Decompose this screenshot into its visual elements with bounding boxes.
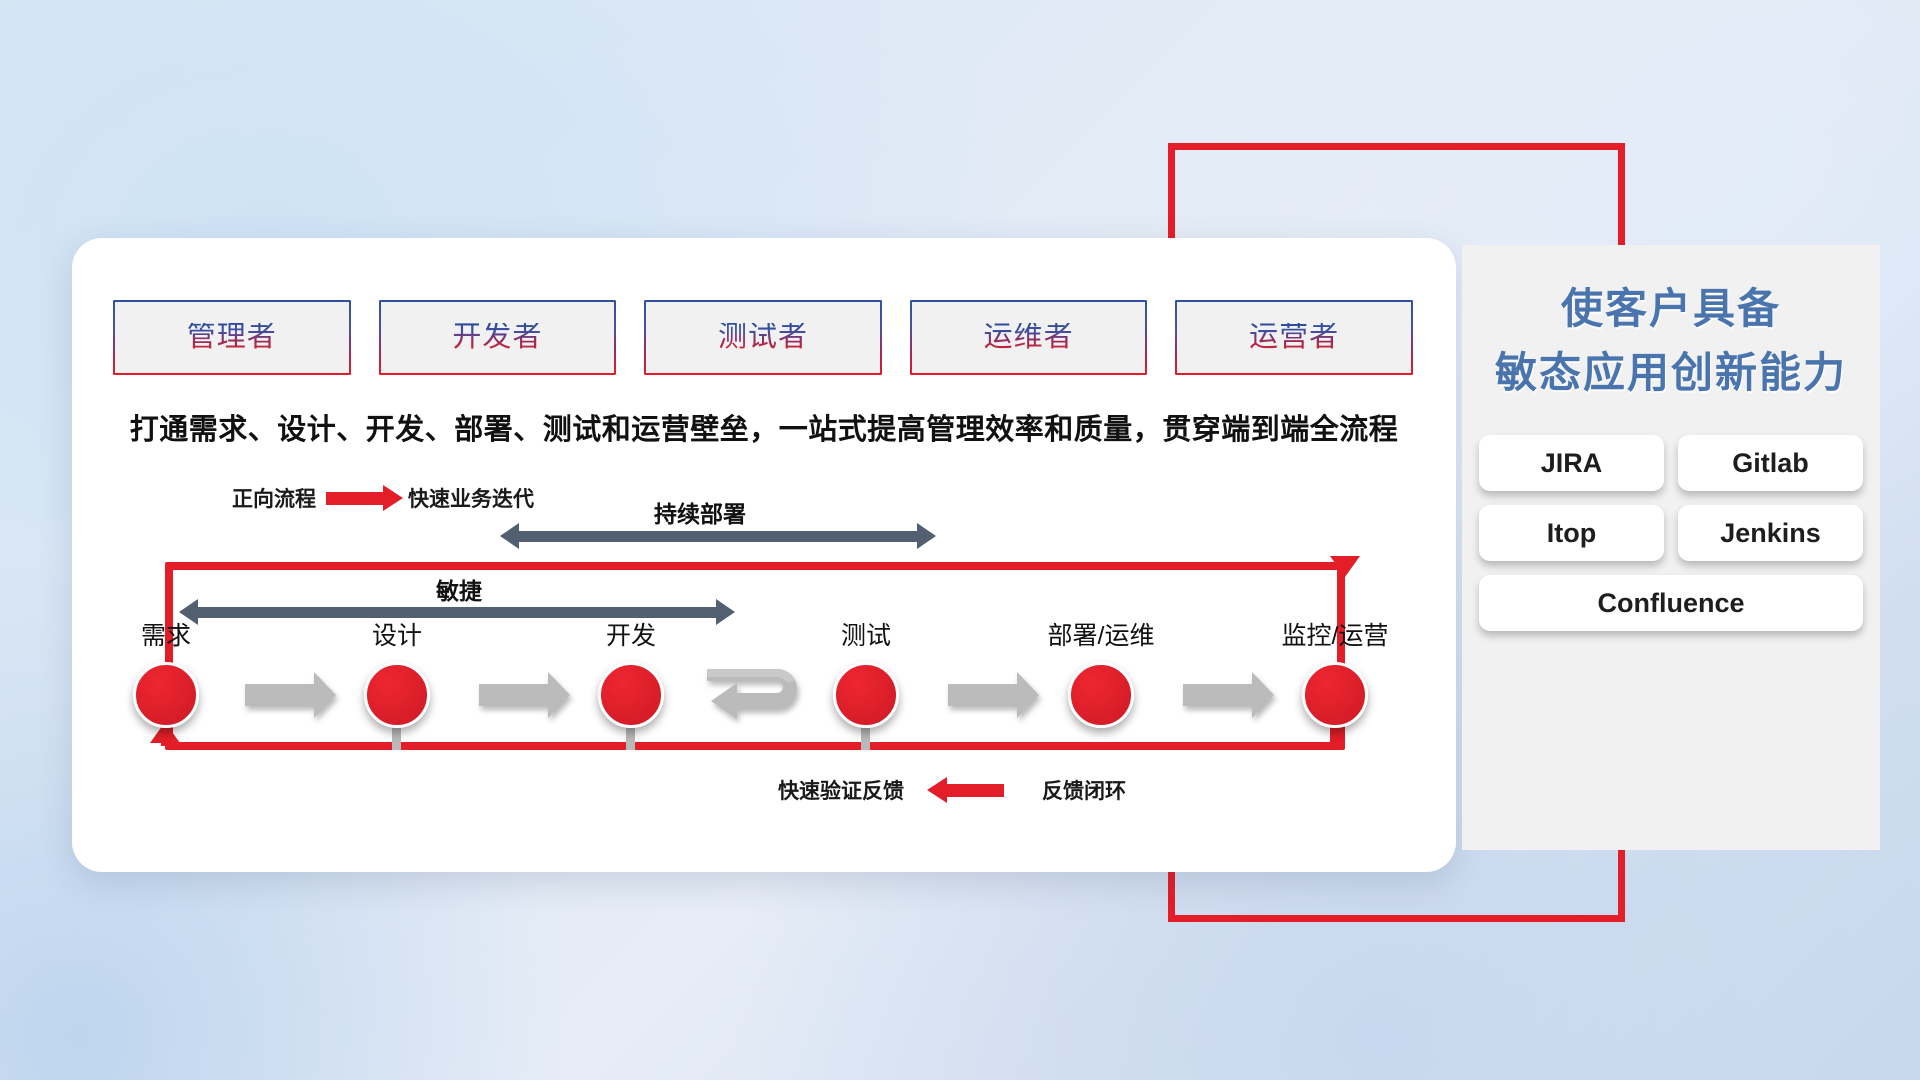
feedback-loop-legend: 快速验证反馈 反馈闭环 — [778, 775, 1126, 805]
feedback-source-label: 反馈闭环 — [1042, 775, 1126, 805]
continuous-deployment-span-arrow — [518, 531, 918, 542]
tool-button-label: Itop — [1547, 518, 1596, 549]
role-chip-tester[interactable]: 测试者 — [644, 300, 882, 375]
tool-button-jenkins[interactable]: Jenkins — [1678, 505, 1863, 561]
continuous-deployment-label: 持续部署 — [654, 495, 746, 529]
tool-button-confluence[interactable]: Confluence — [1479, 575, 1863, 631]
pipeline-node-development[interactable]: 开发 — [598, 662, 664, 728]
pipeline-node-label: 测试 — [841, 616, 891, 652]
feedback-target-label: 快速验证反馈 — [778, 775, 904, 805]
tool-button-label: Gitlab — [1732, 448, 1809, 479]
slide-canvas: 管理者 开发者 测试者 运维者 运营者 打通需求、设计、开发、部署、测试和运营壁… — [0, 0, 1920, 1080]
tool-button-itop[interactable]: Itop — [1479, 505, 1664, 561]
role-chip-label: 测试者 — [718, 323, 808, 352]
step-arrow-4-icon — [948, 684, 1018, 706]
role-chip-developer[interactable]: 开发者 — [379, 300, 617, 375]
pipeline-node-label: 监控/运营 — [1282, 616, 1389, 652]
tool-button-label: Jenkins — [1720, 518, 1821, 549]
role-chip-label: 开发者 — [452, 323, 542, 352]
pipeline-node-label: 需求 — [141, 616, 191, 652]
role-chip-label: 运维者 — [984, 323, 1074, 352]
panel-title-line-2: 敏态应用创新能力 — [1462, 339, 1880, 400]
forward-flow-source-label: 正向流程 — [232, 483, 316, 513]
forward-flow-target-label: 快速业务迭代 — [408, 483, 534, 513]
value-proposition-panel: 使客户具备 敏态应用创新能力 JIRA Gitlab Itop Jenkins … — [1462, 245, 1880, 850]
role-chip-ops[interactable]: 运维者 — [910, 300, 1148, 375]
pipeline-node-label: 部署/运维 — [1048, 616, 1155, 652]
tool-button-label: Confluence — [1597, 588, 1744, 619]
tool-button-jira[interactable]: JIRA — [1479, 435, 1664, 491]
loop-arrowhead-down-icon — [1330, 556, 1360, 577]
pipeline-node-dot — [833, 662, 899, 728]
role-chip-row: 管理者 开发者 测试者 运维者 运营者 — [113, 300, 1413, 375]
tool-button-label: JIRA — [1541, 448, 1603, 479]
role-chip-operations[interactable]: 运营者 — [1175, 300, 1413, 375]
iteration-cycle-arrow-icon — [705, 655, 825, 740]
description-text: 打通需求、设计、开发、部署、测试和运营壁垒，一站式提高管理效率和质量，贯穿端到端… — [0, 406, 1528, 448]
pipeline-node-dot — [1068, 662, 1134, 728]
tool-button-grid: JIRA Gitlab Itop Jenkins Confluence — [1479, 435, 1863, 631]
pipeline-node-dot — [1302, 662, 1368, 728]
panel-title-line-1: 使客户具备 — [1462, 275, 1880, 336]
pipeline-node-deploy-ops[interactable]: 部署/运维 — [1068, 662, 1134, 728]
forward-flow-legend: 正向流程 快速业务迭代 — [232, 483, 534, 513]
arrow-right-red-icon — [326, 492, 384, 505]
pipeline-node-design[interactable]: 设计 — [364, 662, 430, 728]
step-arrow-1-icon — [245, 684, 315, 706]
role-chip-label: 运营者 — [1249, 323, 1339, 352]
pipeline-node-monitor-operations[interactable]: 监控/运营 — [1302, 662, 1368, 728]
pipeline-node-testing[interactable]: 测试 — [833, 662, 899, 728]
step-arrow-5-icon — [1183, 684, 1253, 706]
role-chip-label: 管理者 — [187, 323, 277, 352]
pipeline-node-dot — [364, 662, 430, 728]
tool-button-gitlab[interactable]: Gitlab — [1678, 435, 1863, 491]
pipeline-node-requirement[interactable]: 需求 — [133, 662, 199, 728]
role-chip-manager[interactable]: 管理者 — [113, 300, 351, 375]
arrow-left-red-icon — [946, 784, 1004, 797]
pipeline-node-dot — [598, 662, 664, 728]
pipeline-node-label: 开发 — [606, 616, 656, 652]
pipeline-node-dot — [133, 662, 199, 728]
pipeline-node-label: 设计 — [372, 616, 422, 652]
step-arrow-2-icon — [479, 684, 549, 706]
